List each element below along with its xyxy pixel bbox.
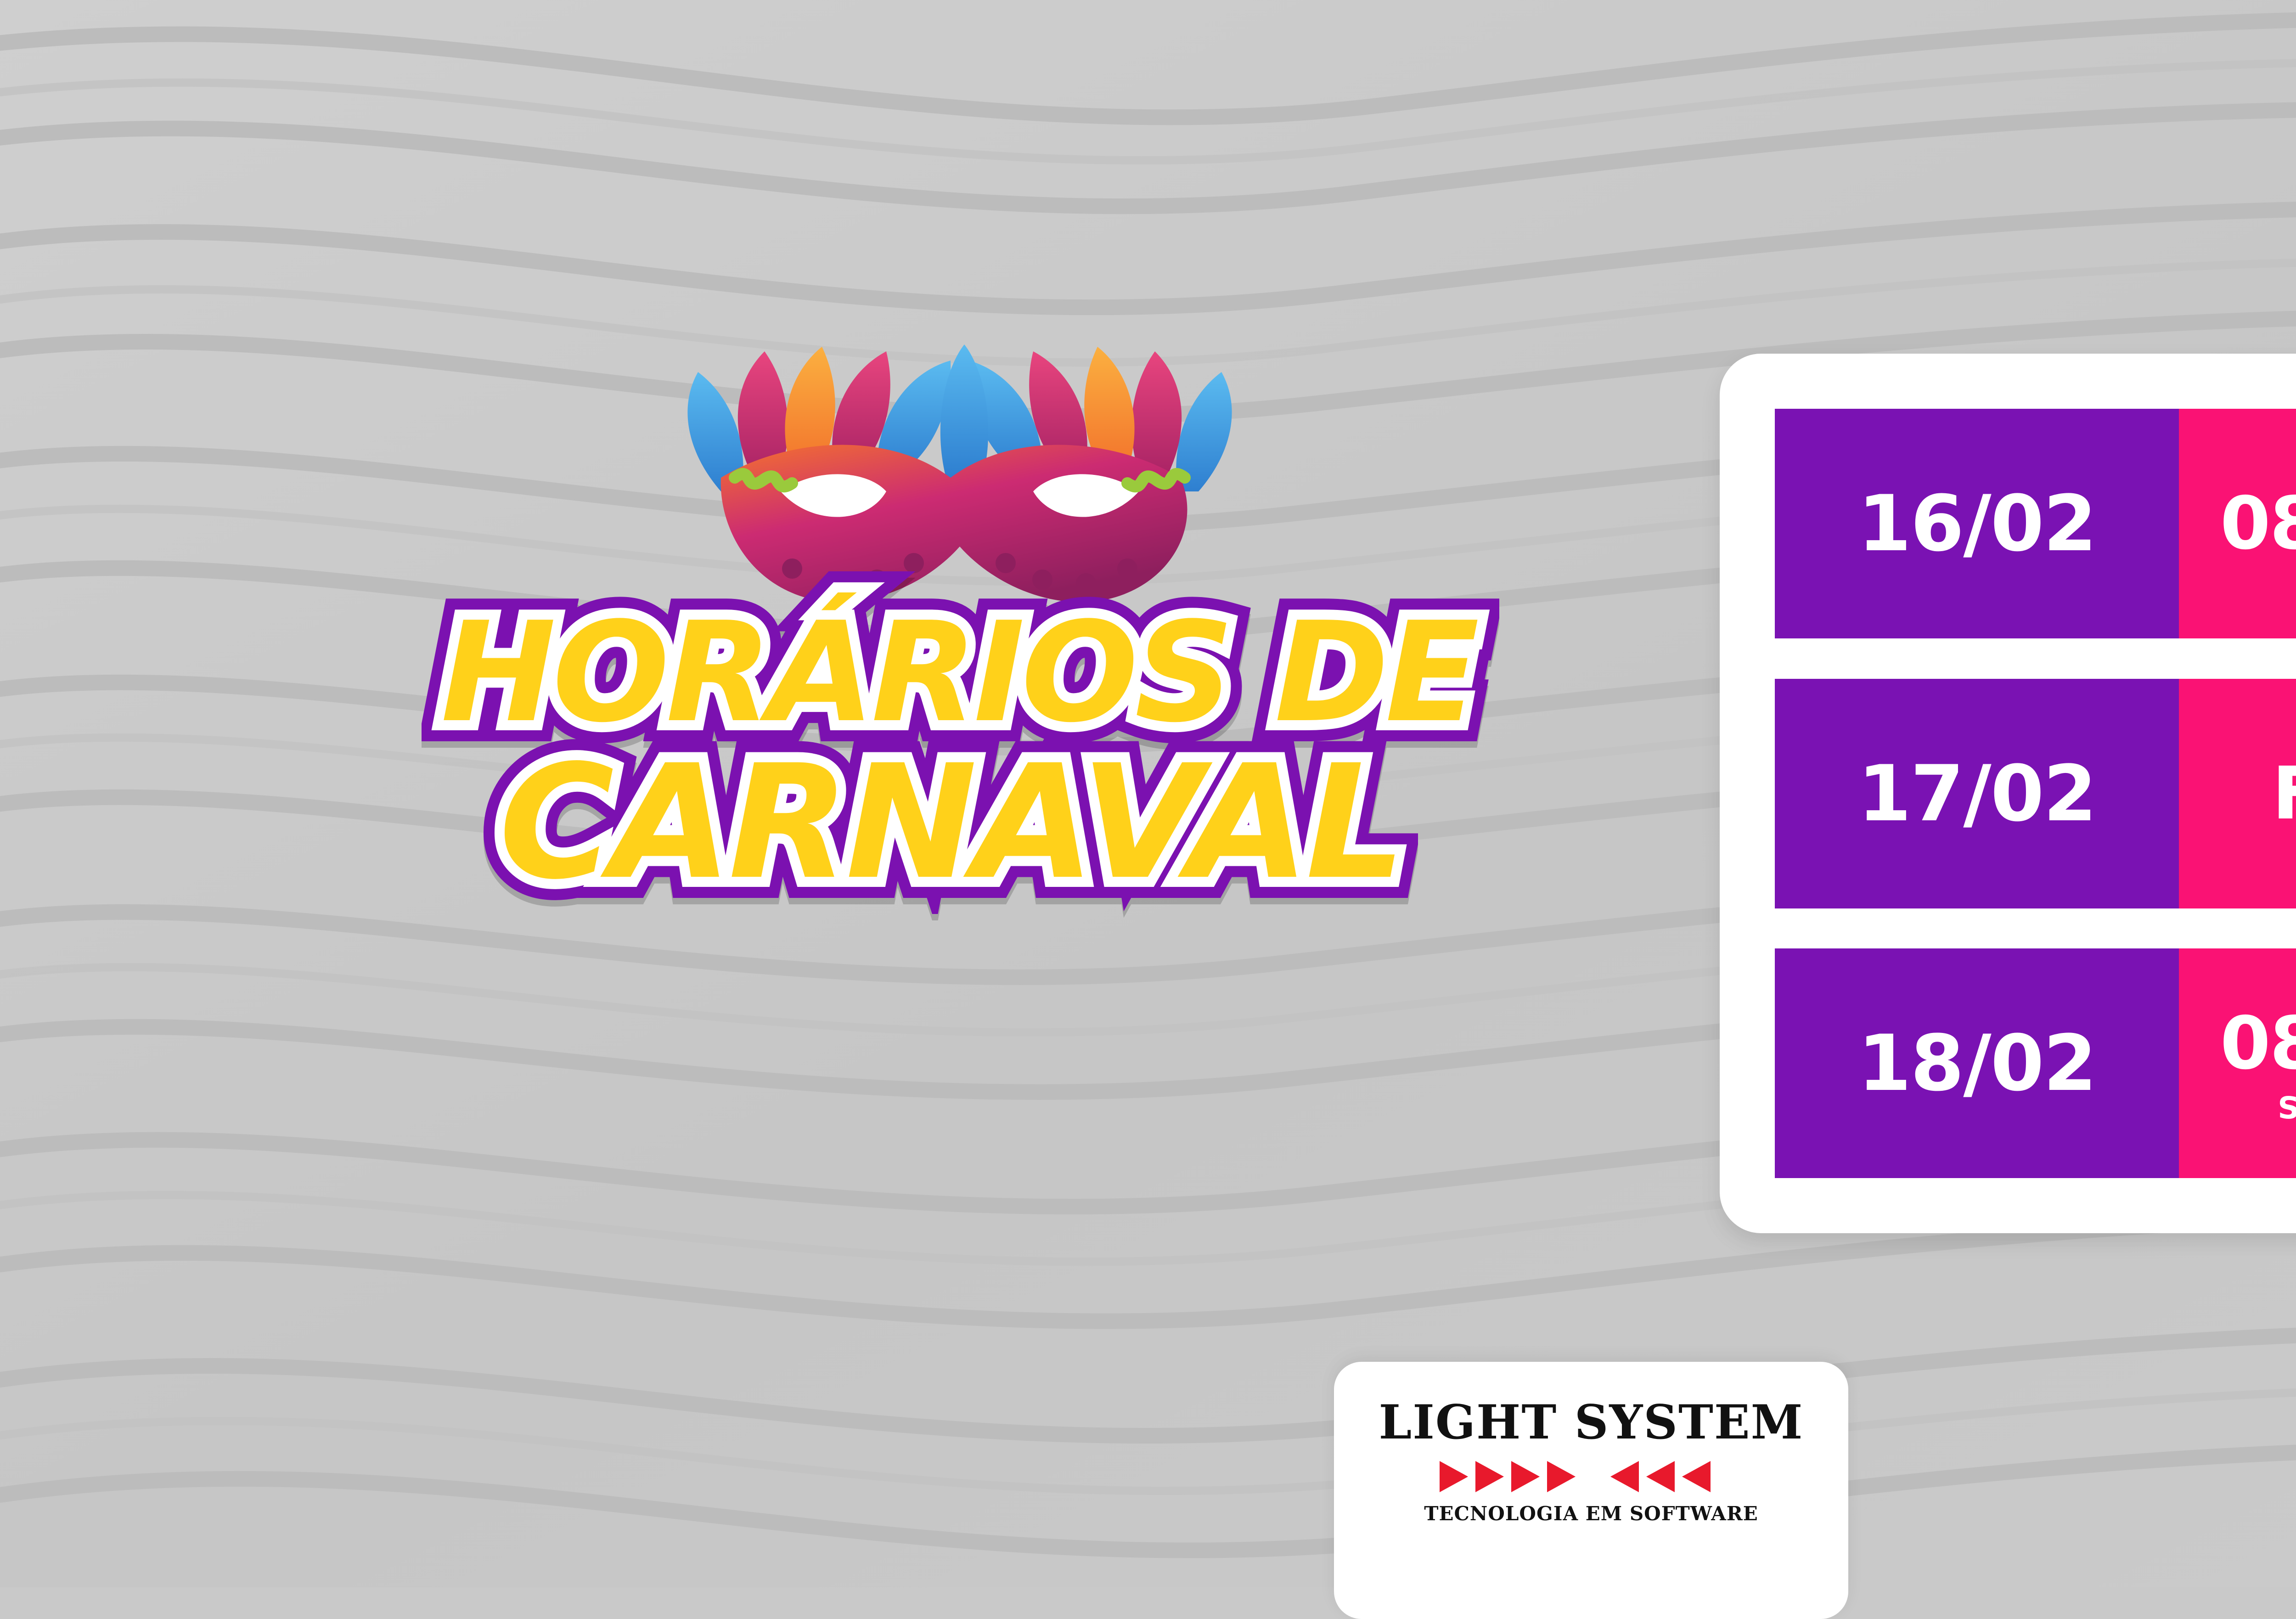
logo-subtitle: TECNOLOGIA EM SOFTWARE: [1424, 1502, 1758, 1525]
schedule-info-1: 08h às 18h: [2179, 409, 2296, 638]
schedule-hours-2: Fechado: [2272, 751, 2296, 836]
schedule-hours-3: 08h às 18h: [2220, 1001, 2296, 1086]
schedule-date-2: 17/02: [1775, 679, 2179, 908]
table-row: 17/02 Fechado: [1775, 679, 2296, 908]
schedule-date-1: 16/02: [1775, 409, 2179, 638]
headline-art-block: HORÁRIOS DE HORÁRIOS DE HORÁRIOS DE CARN…: [441, 340, 1460, 1281]
schedule-card: 16/02 08h às 18h 17/02 Fechado 18/02 08h…: [1720, 354, 2296, 1233]
schedule-note-3: SUPORTE TÉCNICO: [2278, 1090, 2296, 1126]
table-row: 18/02 08h às 18h SUPORTE TÉCNICO: [1775, 948, 2296, 1178]
logo-card: LIGHT SYSTEM TECNOLOGIA EM SOFTWARE: [1334, 1362, 1848, 1619]
schedule-hours-1: 08h às 18h: [2220, 481, 2296, 566]
schedule-date-3: 18/02: [1775, 948, 2179, 1178]
schedule-info-2: Fechado: [2179, 679, 2296, 908]
logo-title: LIGHT SYSTEM: [1379, 1395, 1803, 1450]
headline-line-2: CARNAVAL CARNAVAL CARNAVAL: [441, 744, 1460, 901]
logo-arrows: [1440, 1459, 1743, 1494]
headline-line-1: HORÁRIOS DE HORÁRIOS DE HORÁRIOS DE: [441, 604, 1460, 742]
table-row: 16/02 08h às 18h: [1775, 409, 2296, 638]
schedule-info-3: 08h às 18h SUPORTE TÉCNICO: [2179, 948, 2296, 1178]
